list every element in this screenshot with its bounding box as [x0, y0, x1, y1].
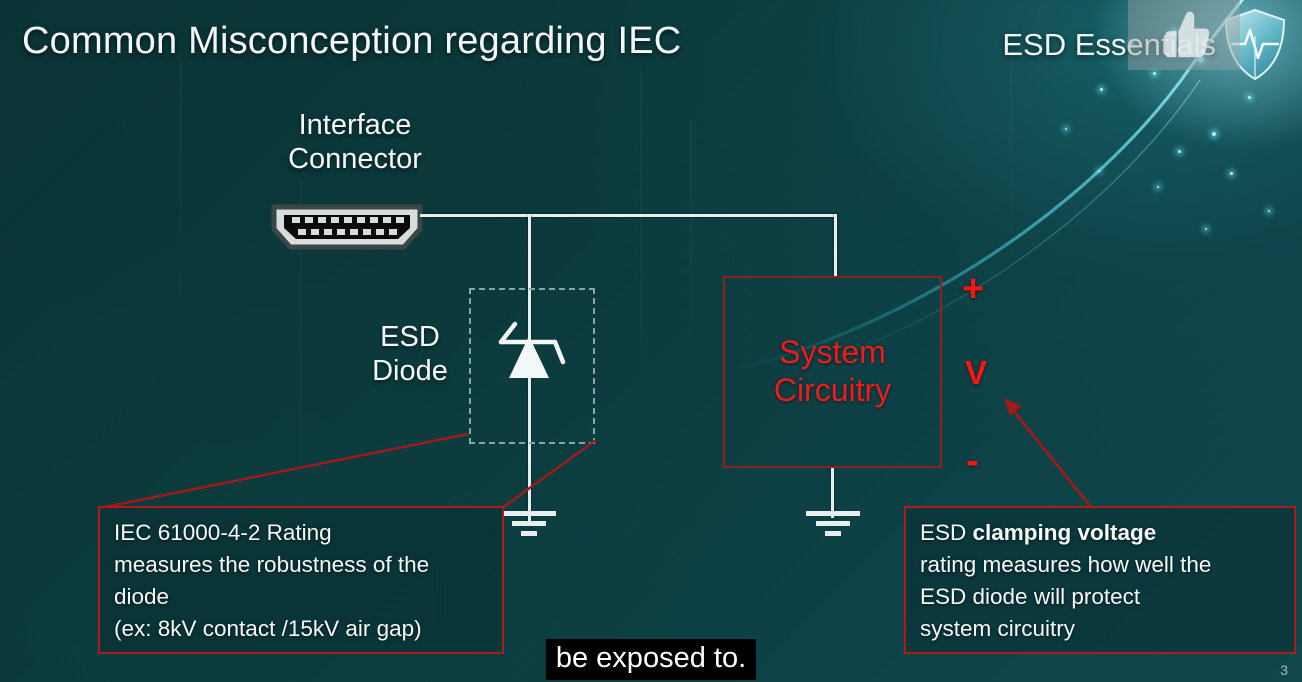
system-circuitry-label: System Circuitry — [774, 334, 891, 410]
esd-diode-label-line2: Diode — [345, 354, 475, 388]
callout-right-line1-bold: clamping voltage — [973, 520, 1157, 545]
esd-diode-label: ESD Diode — [345, 320, 475, 388]
callout-right-line1: ESD clamping voltage — [920, 517, 1280, 549]
callout-left-line3: diode — [114, 581, 488, 613]
ground-symbol-icon-system — [802, 508, 864, 538]
voltage-v-label: V — [965, 354, 987, 392]
leader-arrow-right-head — [1004, 398, 1022, 416]
wire-down-to-system-box — [834, 214, 837, 278]
interface-connector-label-line1: Interface — [252, 108, 458, 142]
system-circuitry-box: System Circuitry — [723, 276, 942, 468]
leader-line-left-lower — [502, 440, 596, 508]
leader-line-left-upper — [100, 434, 468, 508]
page-title: Common Misconception regarding IEC — [22, 20, 681, 63]
system-circuitry-label-line1: System — [774, 334, 891, 372]
interface-connector-label-line2: Connector — [252, 142, 458, 176]
callout-right-line2: rating measures how well the — [920, 549, 1280, 581]
callout-clamping-voltage: ESD clamping voltage rating measures how… — [904, 506, 1296, 654]
video-caption: be exposed to. — [546, 639, 756, 680]
system-circuitry-label-line2: Circuitry — [774, 372, 891, 410]
interface-connector-label: Interface Connector — [252, 108, 458, 176]
zener-diode-icon — [493, 318, 573, 408]
polarity-minus-label: - — [966, 440, 979, 483]
callout-right-line3: ESD diode will protect — [920, 581, 1280, 613]
callout-right-line4: system circuitry — [920, 613, 1280, 645]
slide-canvas: Common Misconception regarding IEC ESD E… — [0, 0, 1302, 682]
wire-connector-to-system — [420, 214, 837, 217]
leader-arrow-right-shaft — [1008, 404, 1090, 506]
polarity-plus-label: + — [962, 268, 984, 311]
esd-diode-label-line1: ESD — [345, 320, 475, 354]
callout-iec-rating: IEC 61000-4-2 Rating measures the robust… — [98, 506, 504, 654]
thumbs-up-icon[interactable] — [1128, 0, 1240, 70]
callout-left-line1: IEC 61000-4-2 Rating — [114, 517, 488, 549]
ground-symbol-icon-diode — [498, 508, 560, 538]
callout-left-line4: (ex: 8kV contact /15kV air gap) — [114, 613, 488, 645]
page-number: 3 — [1280, 662, 1288, 678]
callout-left-line2: measures the robustness of the — [114, 549, 488, 581]
hdmi-connector-icon — [268, 203, 426, 251]
callout-right-line1-pre: ESD — [920, 520, 973, 545]
